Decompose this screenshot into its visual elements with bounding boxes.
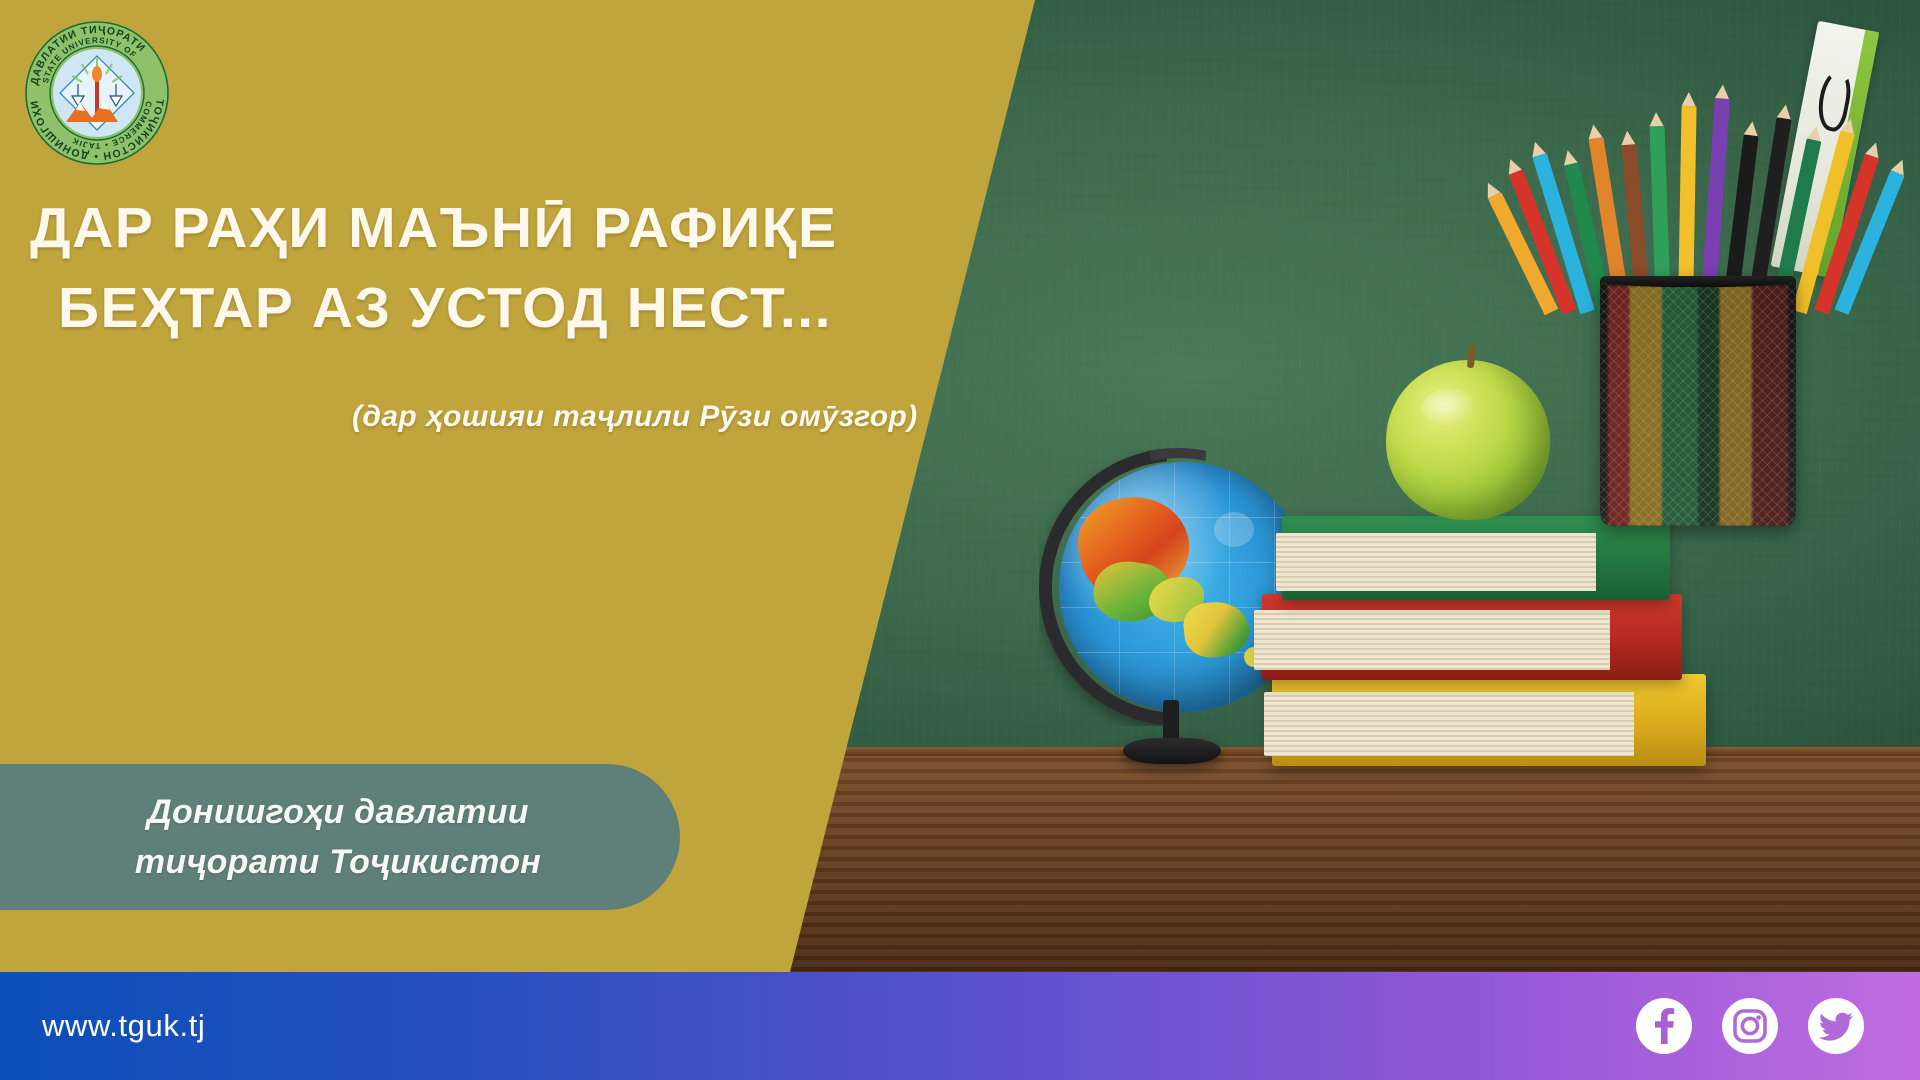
banner-canvas: ДАВЛАТИИ ТИҶОРАТИ ТОҶИКИСТОН • ДОНИШГОҲИ… [0,0,1920,1080]
book-yellow [1272,674,1706,766]
twitter-icon[interactable] [1806,996,1866,1056]
headline-subtitle: (дар ҳошияи таҷлили Рӯзи омӯзгор) [352,400,918,434]
pill-line-2: тиҷорати Тоҷикистон [135,837,541,887]
mesh-pencil-cup [1600,276,1796,526]
website-url[interactable]: www.tguk.tj [42,1008,205,1044]
pencil-cup-rim [1600,276,1796,287]
pencil-cup-mesh [1600,276,1796,526]
university-seal-logo[interactable]: ДАВЛАТИИ ТИҶОРАТИ ТОҶИКИСТОН • ДОНИШГОҲИ… [22,18,172,168]
footer-bar: www.tguk.tj [0,972,1920,1080]
pencil-bundle [1540,12,1870,312]
university-name-pill: Донишгоҳи давлатии тиҷорати Тоҷикистон [0,764,680,910]
instagram-icon[interactable] [1720,996,1780,1056]
social-links [1634,996,1866,1056]
facebook-icon[interactable] [1634,996,1694,1056]
pill-line-1: Донишгоҳи давлатии [147,787,529,837]
book-red [1262,594,1682,680]
headline-line-2: БЕҲТАР АЗ УСТОД НЕСТ... [30,268,990,348]
headline-line-1: ДАР РАҲИ МАЪНӢ РАФИҚЕ [30,196,838,260]
book-green [1282,516,1670,600]
globe-base [1123,738,1221,764]
apple-highlight [1422,389,1478,427]
headline: ДАР РАҲИ МАЪНӢ РАФИҚЕ БЕҲТАР АЗ УСТОД НЕ… [30,188,990,348]
green-apple [1386,360,1550,520]
